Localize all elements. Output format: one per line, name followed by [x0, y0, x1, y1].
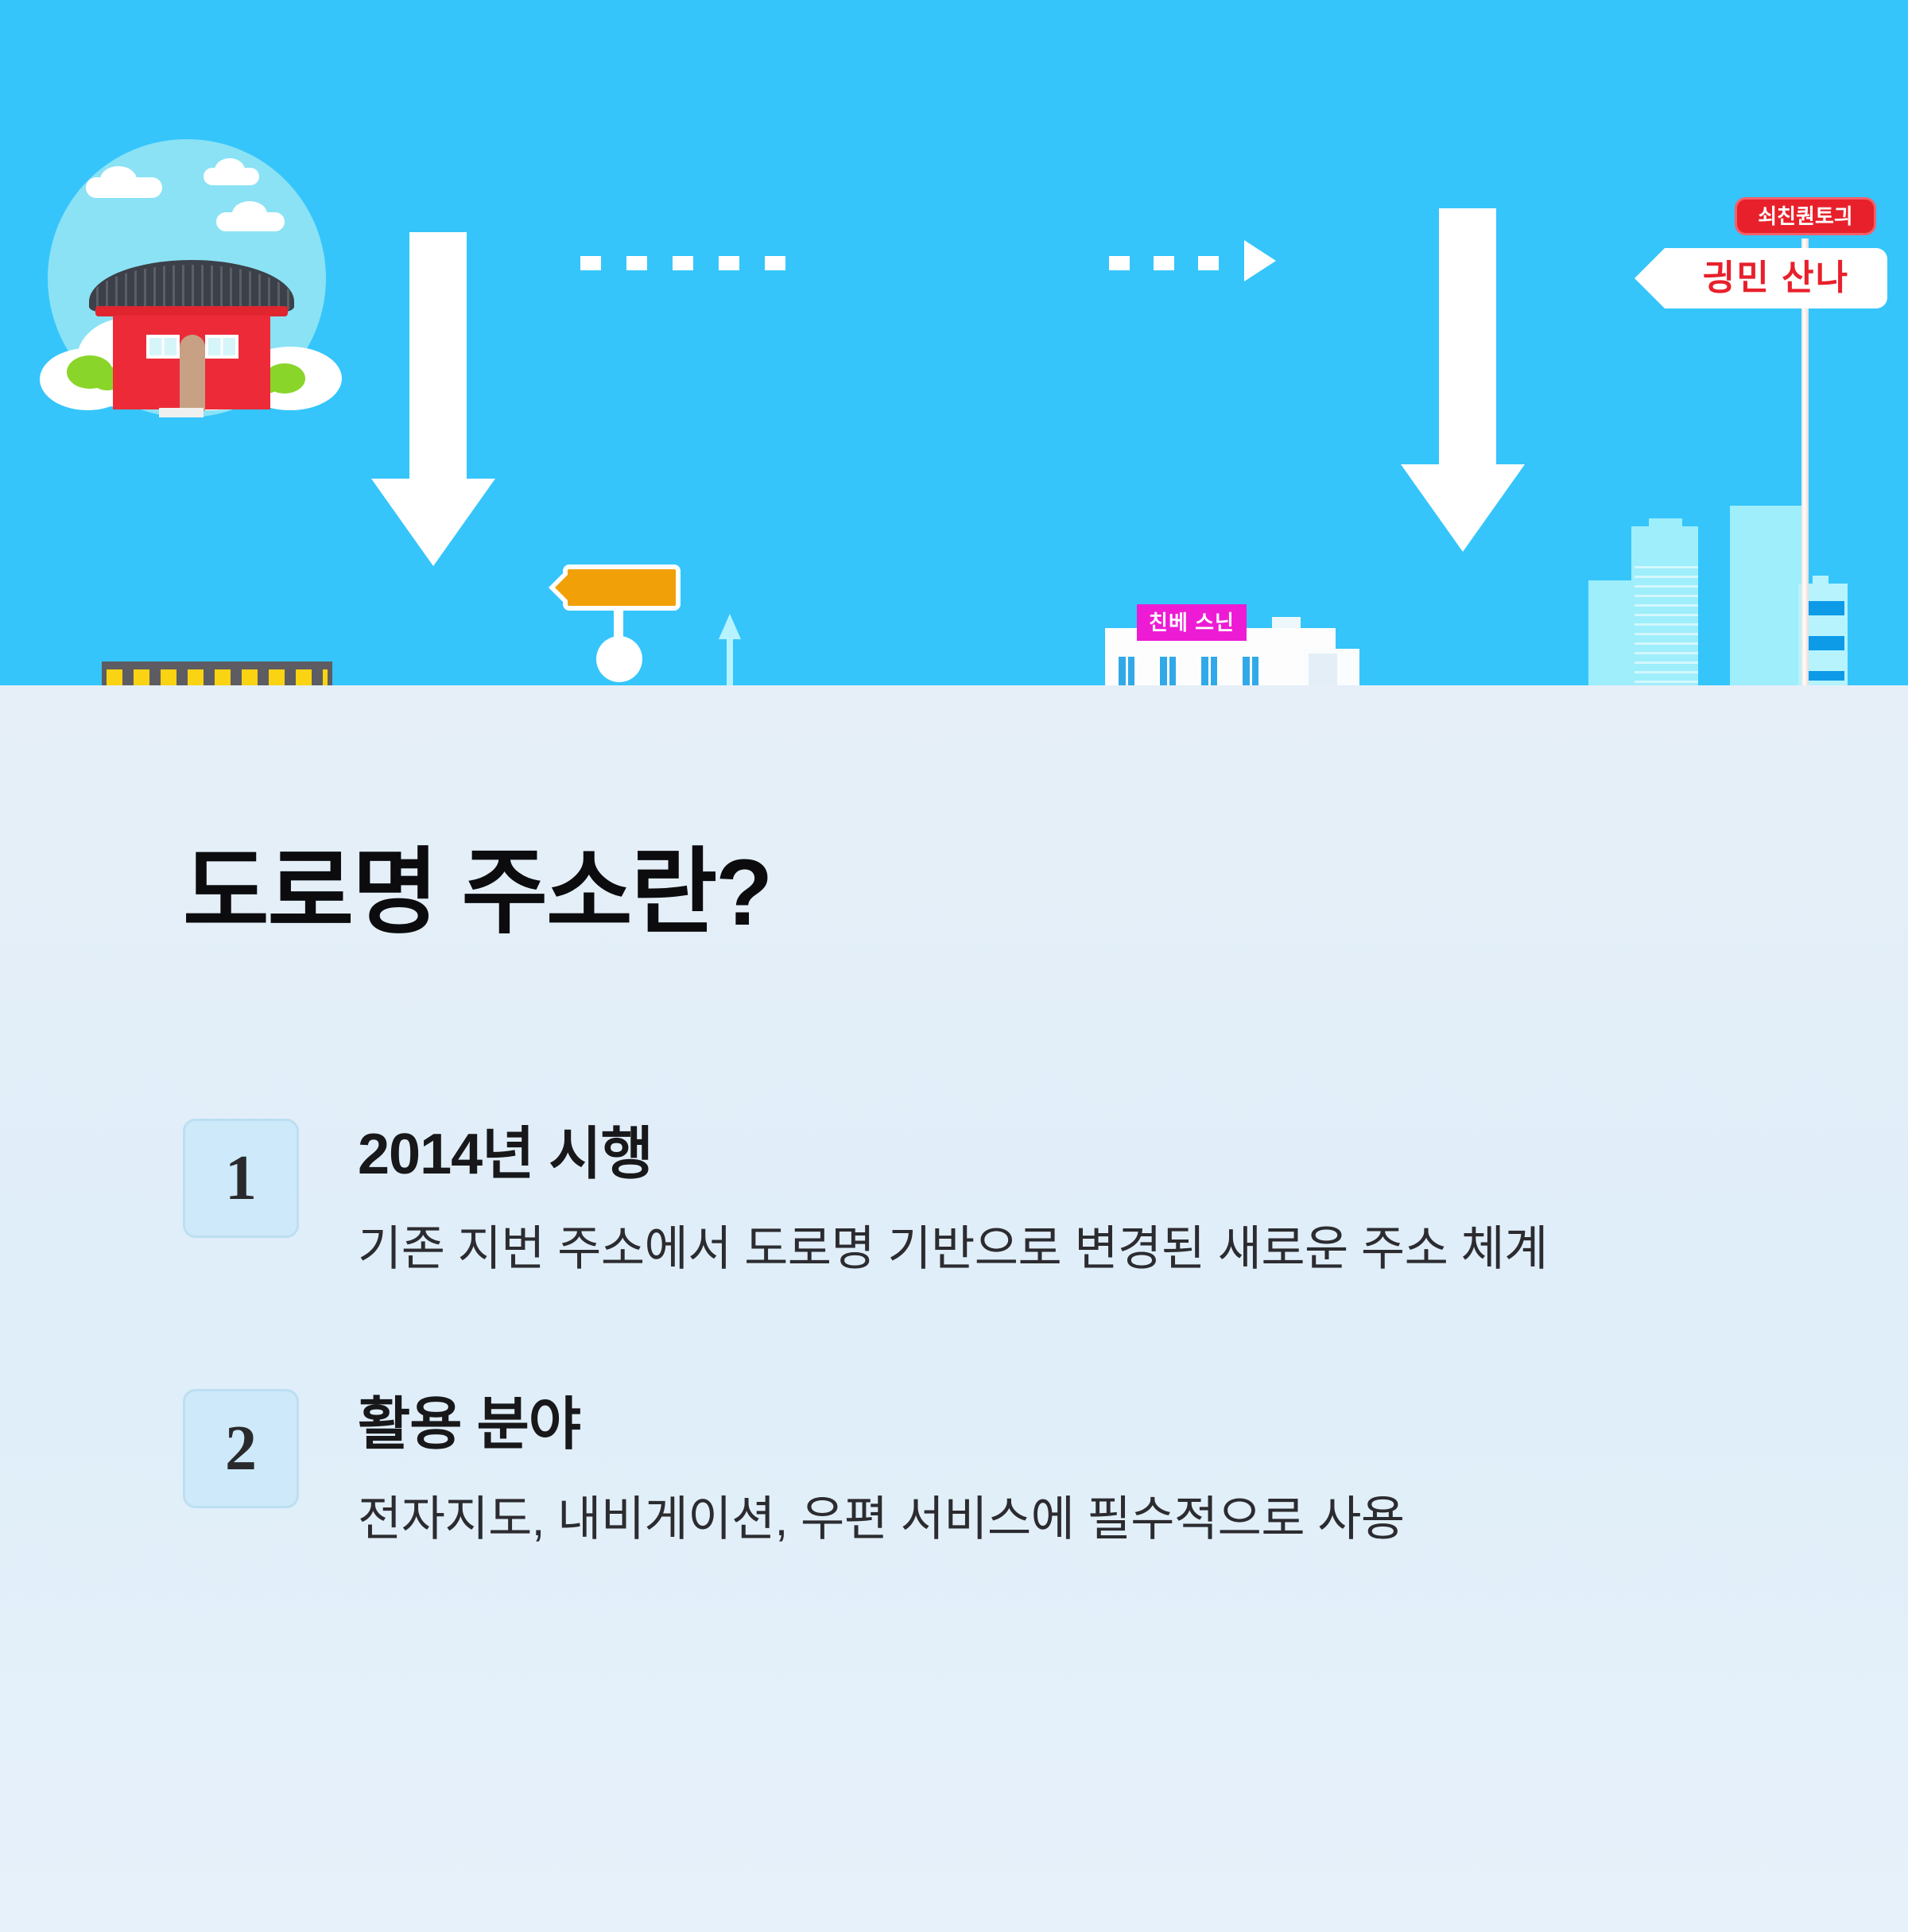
sign-tip-fill [555, 572, 571, 603]
orange-direction-sign [549, 564, 700, 685]
arrow-shaft [1439, 208, 1496, 471]
sign-plate [563, 564, 681, 611]
down-arrow-icon [1399, 208, 1526, 558]
red-road-sign: 쇠친퀀토긔 [1735, 197, 1876, 235]
down-arrow-icon [370, 232, 497, 566]
item-title: 2014년 시행 [358, 1119, 1741, 1186]
item-number-badge: 2 [183, 1389, 299, 1508]
hanok-walls [113, 316, 270, 409]
arrow-head [1401, 464, 1525, 552]
page-root: 친베 스닌 쇠친퀀토 [0, 0, 1908, 1932]
shop-signboard: 친베 스닌 [1137, 604, 1247, 641]
item-description: 기존 지번 주소에서 도로명 기반으로 변경된 새로운 주소 체계 [358, 1212, 1701, 1286]
dashed-path-left [580, 256, 787, 270]
road-name-signpost: 쇠친퀀토긔 긩민 산나 [1654, 197, 1908, 685]
list-item: 1 2014년 시행 기존 지번 주소에서 도로명 기반으로 변경된 새로운 주… [183, 1119, 1741, 1286]
list-item: 2 활용 분야 전자지도, 내비게이션, 우편 서비스에 필수적으로 사용 [183, 1389, 1741, 1556]
hanok-house-icon [100, 260, 283, 419]
cloud-icon [216, 212, 285, 231]
up-arrow-icon [715, 614, 744, 685]
item-description: 전자지도, 내비게이션, 우편 서비스에 필수적으로 사용 [358, 1482, 1701, 1556]
info-item-list: 1 2014년 시행 기존 지번 주소에서 도로명 기반으로 변경된 새로운 주… [183, 1119, 1741, 1659]
content-section: 도로명 주소란? 1 2014년 시행 기존 지번 주소에서 도로명 기반으로 … [0, 685, 1908, 1932]
shop-windows [1116, 657, 1275, 685]
cloud-icon [204, 168, 259, 185]
building-icon [1588, 580, 1633, 685]
page-title: 도로명 주소란? [183, 844, 771, 943]
item-number-badge: 1 [183, 1119, 299, 1238]
sign-base [596, 636, 642, 682]
window-icon [1116, 657, 1137, 685]
hero-banner: 친베 스닌 쇠친퀀토 [0, 0, 1908, 685]
red-sign-text: 쇠친퀀토긔 [1758, 206, 1853, 227]
arrow-shaft [409, 232, 467, 485]
white-road-sign: 긩민 산나 [1665, 248, 1887, 308]
white-sign-text: 긩민 산나 [1703, 261, 1849, 296]
dashed-path-right [1109, 256, 1244, 270]
road-illustration [102, 661, 332, 685]
shop-building-illustration: 친베 스닌 [1105, 604, 1359, 685]
window-icon [146, 335, 180, 359]
window-icon [1240, 657, 1261, 685]
window-icon [205, 335, 238, 359]
door-icon [180, 335, 205, 411]
arrow-shaft [727, 631, 733, 685]
arrow-head [371, 479, 495, 566]
cloud-icon [86, 177, 162, 198]
sign-tip-icon [1635, 248, 1665, 308]
traditional-house-illustration [40, 139, 342, 441]
item-title: 활용 분야 [358, 1389, 1741, 1457]
shop-annex-inner [1309, 654, 1337, 685]
window-icon [1199, 657, 1220, 685]
window-icon [1158, 657, 1178, 685]
path-arrowhead-icon [1244, 240, 1276, 281]
hanok-step [159, 408, 204, 417]
road-markings [107, 669, 328, 685]
shop-sign-text: 친베 스닌 [1149, 612, 1235, 633]
